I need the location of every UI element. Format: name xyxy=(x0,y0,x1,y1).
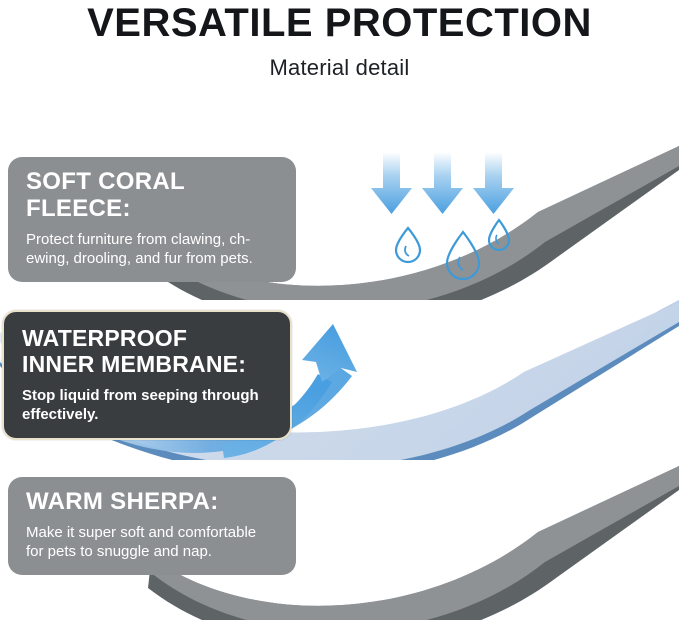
infographic-canvas: VERSATILE PROTECTION Material detail xyxy=(0,0,679,625)
callout-body-line: for pets to snuggle and nap. xyxy=(26,542,280,561)
header: VERSATILE PROTECTION Material detail xyxy=(0,0,679,81)
water-droplet-icon xyxy=(396,228,420,262)
down-arrow-icon xyxy=(371,152,412,214)
callout-waterproof-inner-membrane[interactable]: WATERPROOF INNER MEMBRANE: Stop liquid f… xyxy=(2,310,292,440)
callout-warm-sherpa[interactable]: WARM SHERPA: Make it super soft and comf… xyxy=(8,477,296,575)
callout-soft-coral-fleece[interactable]: SOFT CORAL FLEECE: Protect furniture fro… xyxy=(8,157,296,282)
down-arrow-icon xyxy=(473,152,514,214)
callout-title-line: INNER MEMBRANE: xyxy=(22,352,276,378)
callout-title: SOFT CORAL FLEECE: xyxy=(26,169,280,223)
callout-title-line: WATERPROOF xyxy=(22,326,276,352)
layer-section-soft-coral-fleece: SOFT CORAL FLEECE: Protect furniture fro… xyxy=(0,140,679,300)
down-arrow-group xyxy=(371,152,514,214)
callout-body: Stop liquid from seeping through effecti… xyxy=(22,378,276,424)
callout-body-line: Protect furniture from clawing, ch- xyxy=(26,230,280,249)
page-title: VERSATILE PROTECTION xyxy=(0,0,679,44)
callout-title: WARM SHERPA: xyxy=(26,489,280,516)
callout-body-line: effectively. xyxy=(22,405,276,424)
callout-body: Make it super soft and comfortable for p… xyxy=(26,516,280,561)
callout-body-line: Make it super soft and comfortable xyxy=(26,523,280,542)
callout-body: Protect furniture from clawing, ch- ewin… xyxy=(26,223,280,268)
layer-section-waterproof-inner-membrane: WATERPROOF INNER MEMBRANE: Stop liquid f… xyxy=(0,300,679,460)
callout-body-line: ewing, drooling, and fur from pets. xyxy=(26,249,280,268)
layer-section-warm-sherpa: WARM SHERPA: Make it super soft and comf… xyxy=(0,460,679,620)
callout-body-line: Stop liquid from seeping through xyxy=(22,386,276,405)
water-droplet-highlight xyxy=(405,246,409,256)
callout-title: WATERPROOF INNER MEMBRANE: xyxy=(22,326,276,378)
page-subtitle: Material detail xyxy=(0,44,679,81)
down-arrow-icon xyxy=(422,152,463,214)
arrow-head xyxy=(302,324,357,382)
